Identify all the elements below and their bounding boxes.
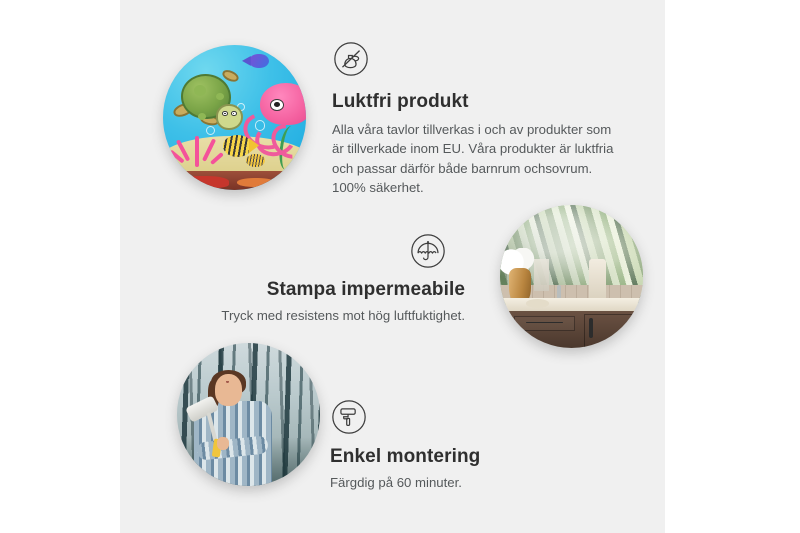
bathroom-illustration: [500, 205, 643, 348]
feature-block-waterproof: Stampa impermeabile Tryck med resistens …: [215, 232, 465, 325]
fish-icon: [246, 154, 265, 167]
feature-image-bathroom-tropical-wallpaper: [500, 205, 643, 348]
face: [215, 374, 242, 405]
feature-title: Enkel montering: [330, 446, 580, 468]
turtle-eye: [222, 111, 228, 117]
octopus-icon: [246, 83, 306, 147]
smile: [226, 380, 229, 384]
no-perfume-spray-icon: [332, 40, 370, 78]
feature-image-woman-with-paint-roller-forest-mural: [177, 343, 320, 486]
cabinet-drawer: [514, 316, 575, 331]
product-feature-banner: Luktfri produkt Alla våra tavlor tillver…: [0, 0, 800, 533]
turtle-icon: [177, 74, 244, 132]
feature-description: Alla våra tavlor tillverkas i och av pro…: [332, 120, 624, 197]
feature-description: Tryck med resistens mot hög luftfuktighe…: [215, 306, 465, 325]
feature-title: Stampa impermeabile: [215, 279, 465, 301]
feature-title: Luktfri produkt: [332, 91, 624, 113]
octopus-head: [260, 83, 306, 125]
vanity-cabinet: [509, 311, 643, 348]
fish-icon: [249, 54, 269, 69]
feature-description: Färgdig på 60 minuter.: [330, 473, 580, 492]
cabinet-door: [584, 314, 640, 348]
feature-image-underwater-cartoon-scene: [163, 45, 306, 190]
soap-dish: [526, 299, 549, 308]
paint-roller-icon: [330, 398, 368, 436]
octopus-eye: [270, 99, 284, 112]
feature-block-mounting: Enkel montering Färgdig på 60 minuter.: [330, 398, 580, 492]
turtle-eye: [231, 111, 237, 117]
underwater-illustration: [163, 45, 306, 190]
forest-illustration: [177, 343, 320, 486]
turtle-head: [216, 104, 243, 130]
fish-icon: [223, 135, 252, 157]
feature-block-odorless: Luktfri produkt Alla våra tavlor tillver…: [332, 40, 624, 197]
woman-figure: [188, 374, 277, 486]
sea-floor-strip: [163, 171, 306, 190]
soap-bottle: [589, 259, 606, 302]
hand: [217, 437, 229, 450]
umbrella-icon: [409, 232, 447, 270]
